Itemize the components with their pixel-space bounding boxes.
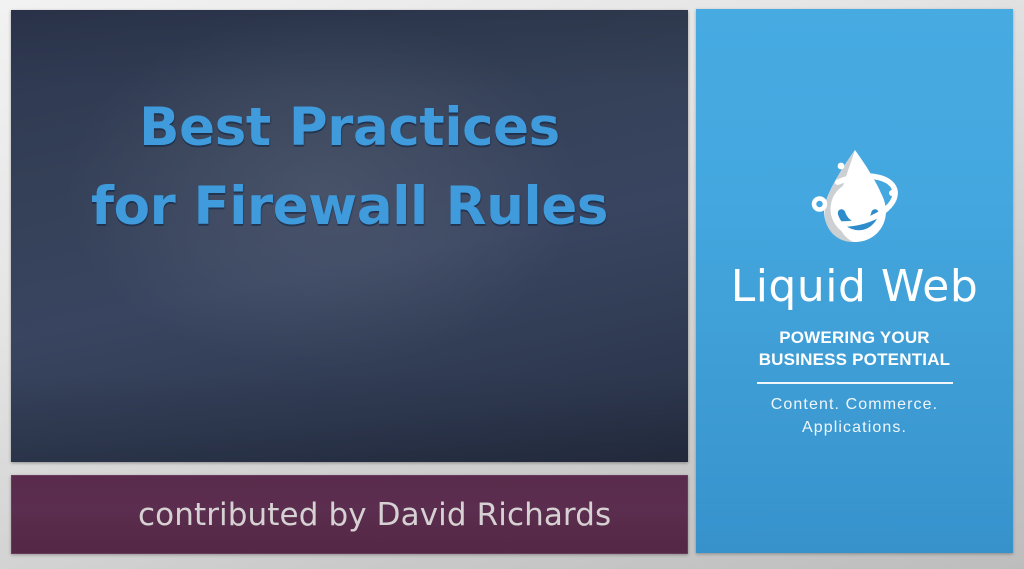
subtitle-bar: contributed by David Richards: [11, 475, 688, 554]
brand-services: Content. Commerce. Applications.: [771, 393, 938, 439]
slide-title: Best Practices for Firewall Rules: [11, 88, 688, 246]
brand-services-line-2: Applications.: [771, 416, 938, 439]
brand-tagline-line-2: BUSINESS POTENTIAL: [759, 349, 951, 371]
brand-panel: Liquid Web POWERING YOUR BUSINESS POTENT…: [696, 9, 1013, 553]
brand-services-line-1: Content. Commerce.: [771, 393, 938, 416]
water-droplet-orbit-icon: [796, 141, 914, 259]
brand-wordmark: Liquid Web: [731, 265, 979, 309]
brand-tagline: POWERING YOUR BUSINESS POTENTIAL: [759, 327, 951, 371]
title-panel: Best Practices for Firewall Rules: [11, 10, 688, 462]
attribution-text: contributed by David Richards: [12, 497, 611, 533]
presentation-slide: Best Practices for Firewall Rules contri…: [0, 0, 1024, 569]
title-line-1: Best Practices: [11, 88, 688, 167]
title-line-2: for Firewall Rules: [11, 167, 688, 246]
brand-divider: [757, 382, 953, 384]
brand-tagline-line-1: POWERING YOUR: [759, 327, 951, 349]
